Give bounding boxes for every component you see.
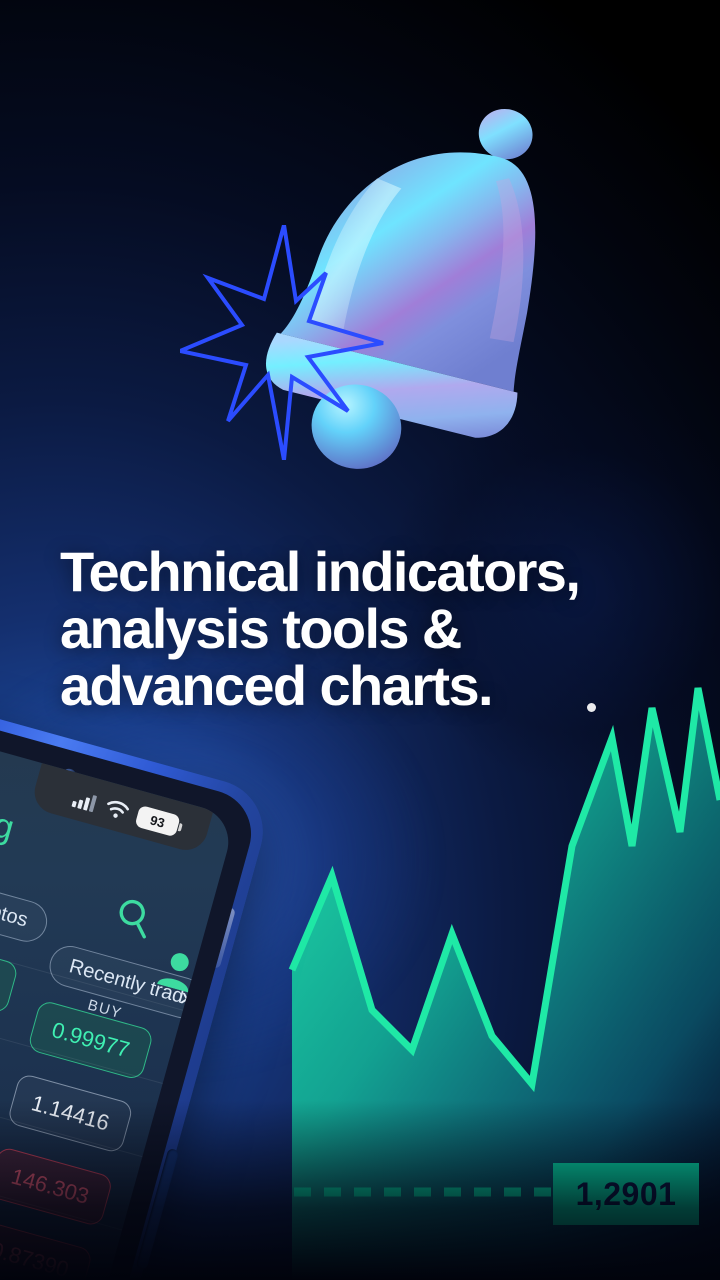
cellular-signal-icon (72, 790, 100, 813)
sell-price-pill[interactable]: 0.99976 (0, 933, 19, 1015)
chip-cryptos[interactable]: Cryptos (0, 877, 52, 946)
battery-level: 93 (149, 812, 167, 830)
app-logo: Skilling (0, 782, 18, 849)
wifi-icon (103, 798, 131, 822)
bottom-vignette (0, 1100, 720, 1280)
promo-canvas: Technical indicators, analysis tools & a… (0, 0, 720, 1280)
headline-line-2: analysis tools & (60, 600, 700, 657)
bell-illustration (180, 75, 600, 485)
user-profile-icon[interactable] (155, 947, 200, 993)
headline-line-1: Technical indicators, (60, 543, 700, 600)
search-icon[interactable] (109, 893, 158, 942)
starburst-icon (180, 225, 400, 460)
